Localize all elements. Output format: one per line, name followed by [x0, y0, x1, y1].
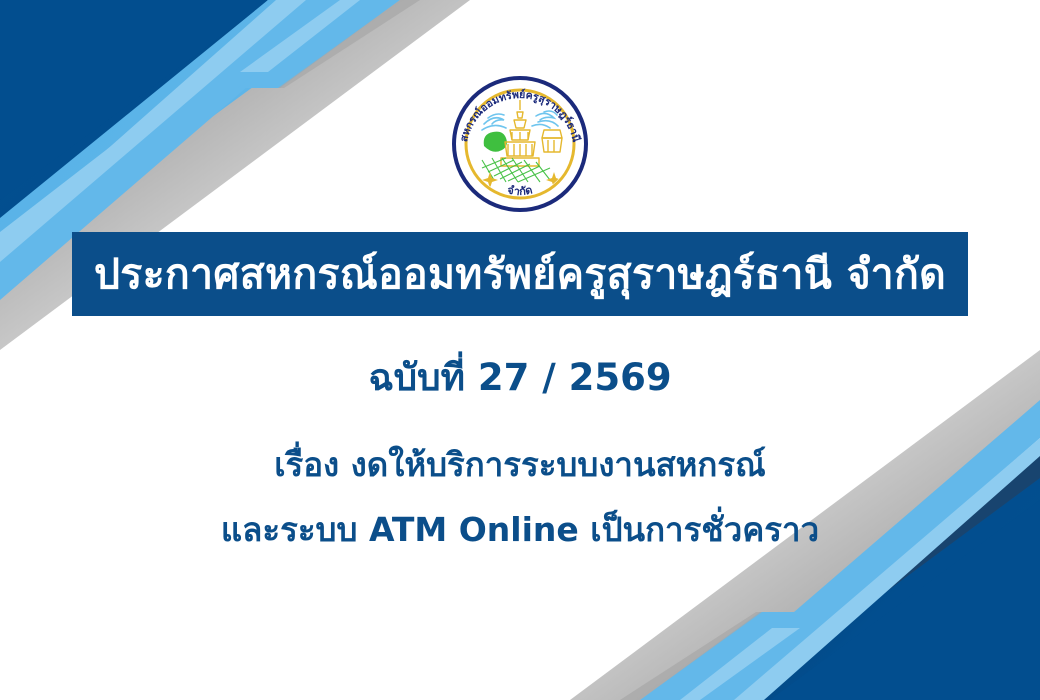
top-left-long-ribbon [104, 52, 340, 208]
logo: สหกรณ์ออมทรัพย์ครูสุราษฎร์ธานี จำกัด [448, 72, 592, 216]
top-left-detached-shadow [278, 0, 420, 88]
issue-number-line: ฉบับที่ 27 / 2569 [0, 358, 1040, 399]
page-title: ประกาศสหกรณ์ออมทรัพย์ครูสุราษฎร์ธานี จำก… [94, 254, 946, 295]
subject-line-1: เรื่อง งดให้บริการระบบงานสหกรณ์ [0, 447, 1040, 483]
top-left-sky-stripe-short [268, 0, 1040, 78]
bottom-right-detached-stripe [618, 608, 802, 700]
title-banner: ประกาศสหกรณ์ออมทรัพย์ครูสุราษฎร์ธานี จำก… [72, 232, 968, 316]
top-left-far-stripe [268, 60, 342, 78]
announcement-poster: สหกรณ์ออมทรัพย์ครูสุราษฎร์ธานี จำกัด ประ… [0, 0, 1040, 700]
top-left-upper-detached [252, 62, 340, 90]
top-left-notch [265, 58, 338, 85]
top-left-navy-wedge [0, 0, 300, 222]
top-left-navy-shadow [0, 0, 372, 255]
cooperative-seal-icon: สหกรณ์ออมทรัพย์ครูสุราษฎร์ธานี จำกัด [448, 72, 592, 216]
bottom-right-detached-shadow [620, 612, 762, 700]
top-left-detached-stripe-2 [238, 0, 400, 88]
subject-line-2: และระบบ ATM Online เป็นการชั่วคราว [0, 512, 1040, 548]
seal-ring-text-bottom: จำกัด [506, 183, 533, 198]
top-left-detached-stripe [252, 55, 338, 110]
